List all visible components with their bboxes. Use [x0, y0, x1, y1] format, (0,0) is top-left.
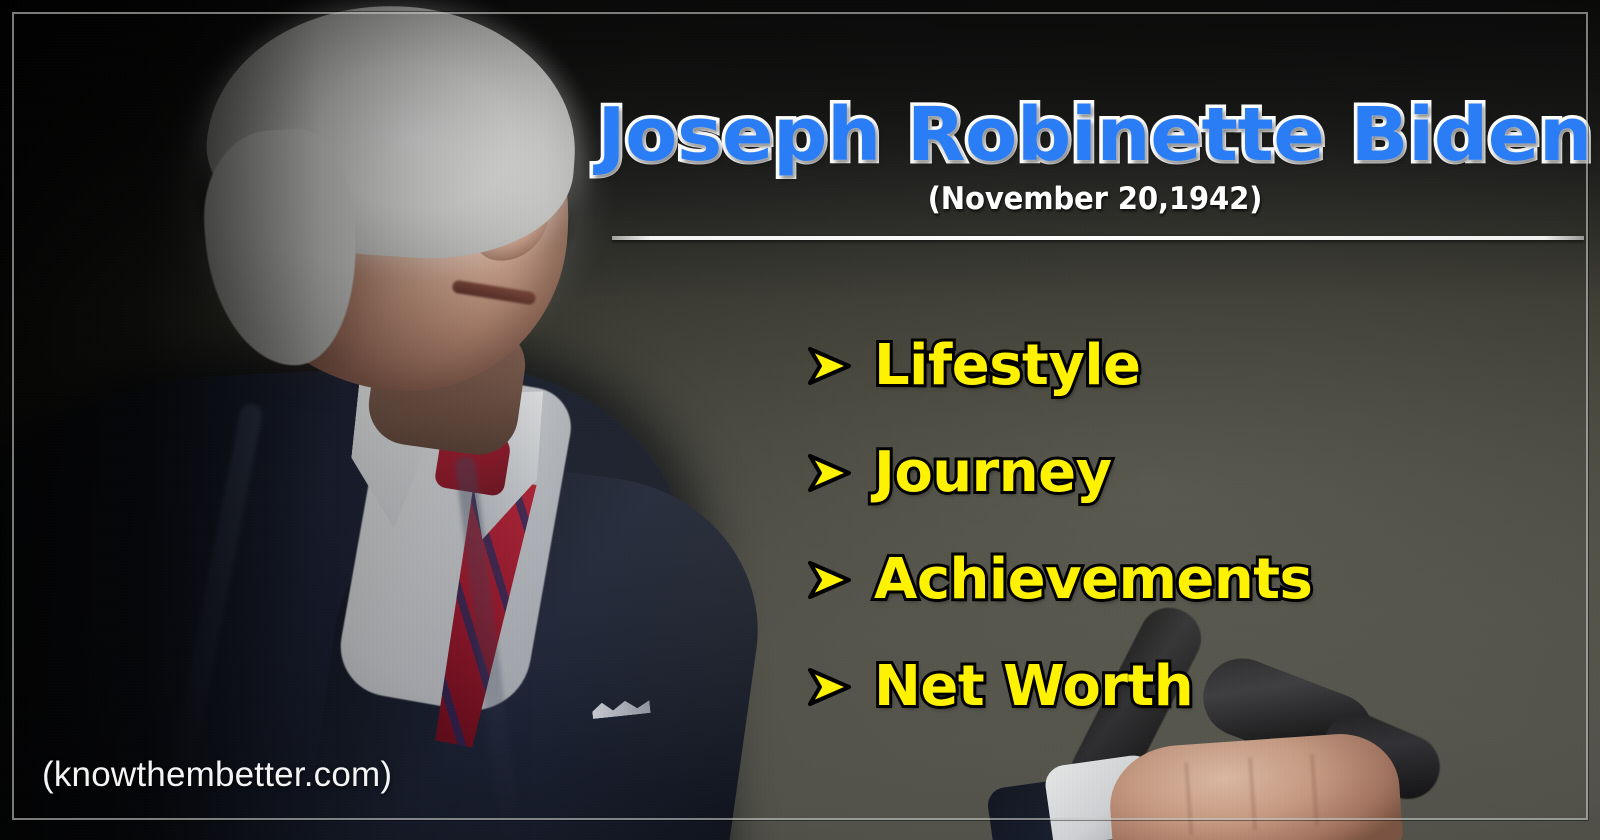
list-item[interactable]: Journey — [806, 419, 1312, 526]
header-divider — [612, 236, 1584, 240]
site-watermark: (knowthembetter.com) — [42, 755, 392, 795]
list-item-label: Lifestyle — [874, 333, 1141, 398]
list-item[interactable]: Achievements — [806, 526, 1312, 633]
list-item[interactable]: Net Worth — [806, 633, 1312, 740]
title-block: Joseph Robinette Biden (November 20,1942… — [600, 100, 1590, 217]
list-item-label: Net Worth — [874, 654, 1193, 719]
list-item-label: Achievements — [874, 547, 1312, 612]
arrow-bullet-icon — [806, 345, 852, 387]
list-item-label: Journey — [874, 440, 1112, 505]
birth-date-subtitle: (November 20,1942) — [630, 181, 1561, 217]
list-item[interactable]: Lifestyle — [806, 312, 1312, 419]
arrow-bullet-icon — [806, 452, 852, 494]
text-overlay: Joseph Robinette Biden (November 20,1942… — [0, 0, 1600, 840]
arrow-bullet-icon — [806, 666, 852, 708]
page-title: Joseph Robinette Biden — [585, 100, 1600, 171]
arrow-bullet-icon — [806, 559, 852, 601]
biden-banner-thumbnail: Joseph Robinette Biden (November 20,1942… — [0, 0, 1600, 840]
topics-list: Lifestyle Journey Achievements Net Worth — [806, 312, 1312, 740]
